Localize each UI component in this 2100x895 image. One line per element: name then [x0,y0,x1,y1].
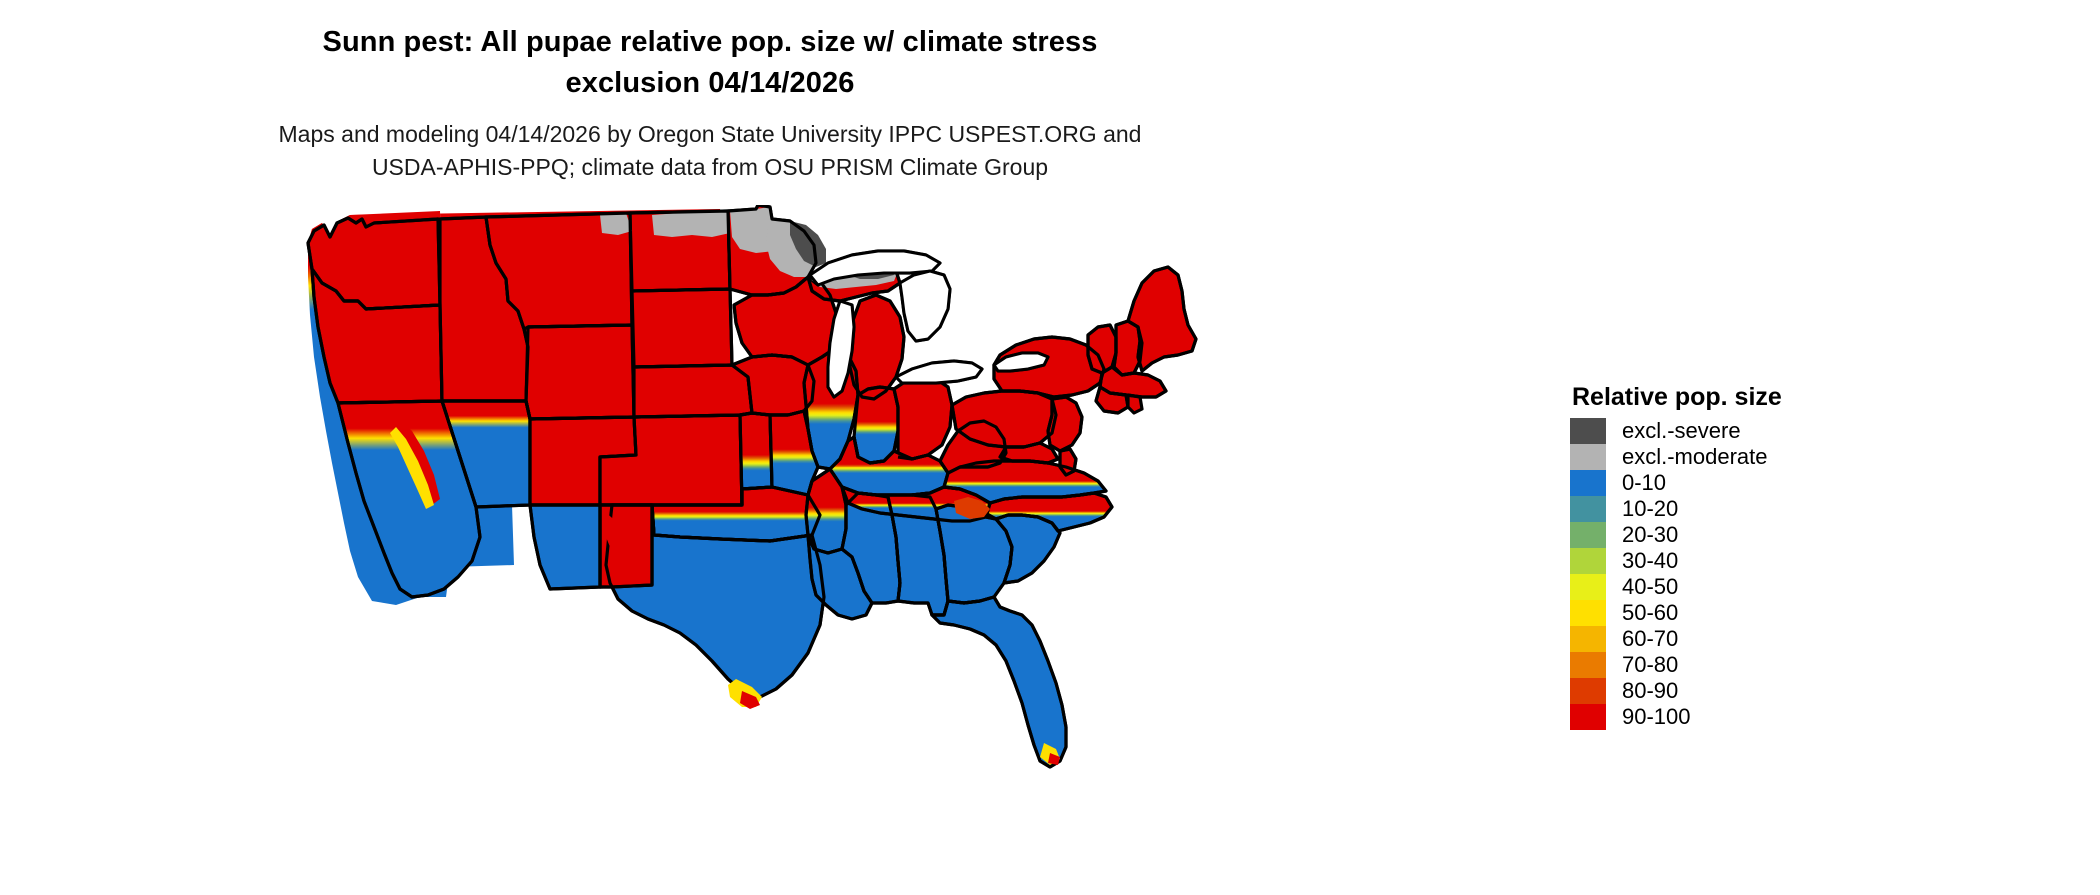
legend-row: 40-50 [1570,574,1900,600]
legend-row: 0-10 [1570,470,1900,496]
legend-label: 0-10 [1622,470,1666,496]
legend-swatch [1570,496,1606,522]
legend-items: excl.-severeexcl.-moderate0-1010-2020-30… [1570,418,1900,730]
legend-row: 20-30 [1570,522,1900,548]
legend-row: excl.-moderate [1570,444,1900,470]
legend-row: 30-40 [1570,548,1900,574]
title-line-1: Sunn pest: All pupae relative pop. size … [0,22,1420,63]
page-title: Sunn pest: All pupae relative pop. size … [0,22,1420,104]
subtitle-line-2: USDA-APHIS-PPQ; climate data from OSU PR… [0,151,1420,184]
legend-row: 10-20 [1570,496,1900,522]
legend-swatch [1570,444,1606,470]
legend-label: 10-20 [1622,496,1678,522]
page-subtitle: Maps and modeling 04/14/2026 by Oregon S… [0,118,1420,184]
legend-label: 80-90 [1622,678,1678,704]
legend-row: 70-80 [1570,652,1900,678]
map-svg [300,205,1220,895]
legend-swatch [1570,522,1606,548]
legend-label: 30-40 [1622,548,1678,574]
legend-row: excl.-severe [1570,418,1900,444]
legend-row: 60-70 [1570,626,1900,652]
state-wyoming [526,325,634,419]
legend-label: 40-50 [1622,574,1678,600]
legend-title: Relative pop. size [1572,383,1900,412]
legend-label: 50-60 [1622,600,1678,626]
legend-swatch [1570,704,1606,730]
legend-row: 50-60 [1570,600,1900,626]
us-choropleth-map [300,205,1220,895]
legend-swatch [1570,626,1606,652]
legend-swatch [1570,574,1606,600]
legend-swatch [1570,418,1606,444]
exclusion-moderate-nd [652,211,730,237]
legend-label: excl.-severe [1622,418,1741,444]
map-legend: Relative pop. size excl.-severeexcl.-mod… [1570,383,1900,730]
state-nebraska [634,365,752,417]
legend-row: 80-90 [1570,678,1900,704]
legend-swatch [1570,548,1606,574]
legend-swatch [1570,678,1606,704]
title-line-2: exclusion 04/14/2026 [0,63,1420,104]
state-south-dakota [632,289,732,367]
legend-swatch [1570,600,1606,626]
legend-label: 90-100 [1622,704,1691,730]
legend-row: 90-100 [1570,704,1900,730]
map-page: Sunn pest: All pupae relative pop. size … [0,0,2100,892]
legend-swatch [1570,652,1606,678]
legend-label: excl.-moderate [1622,444,1768,470]
legend-label: 70-80 [1622,652,1678,678]
legend-swatch [1570,470,1606,496]
legend-label: 60-70 [1622,626,1678,652]
subtitle-line-1: Maps and modeling 04/14/2026 by Oregon S… [0,118,1420,151]
legend-label: 20-30 [1622,522,1678,548]
